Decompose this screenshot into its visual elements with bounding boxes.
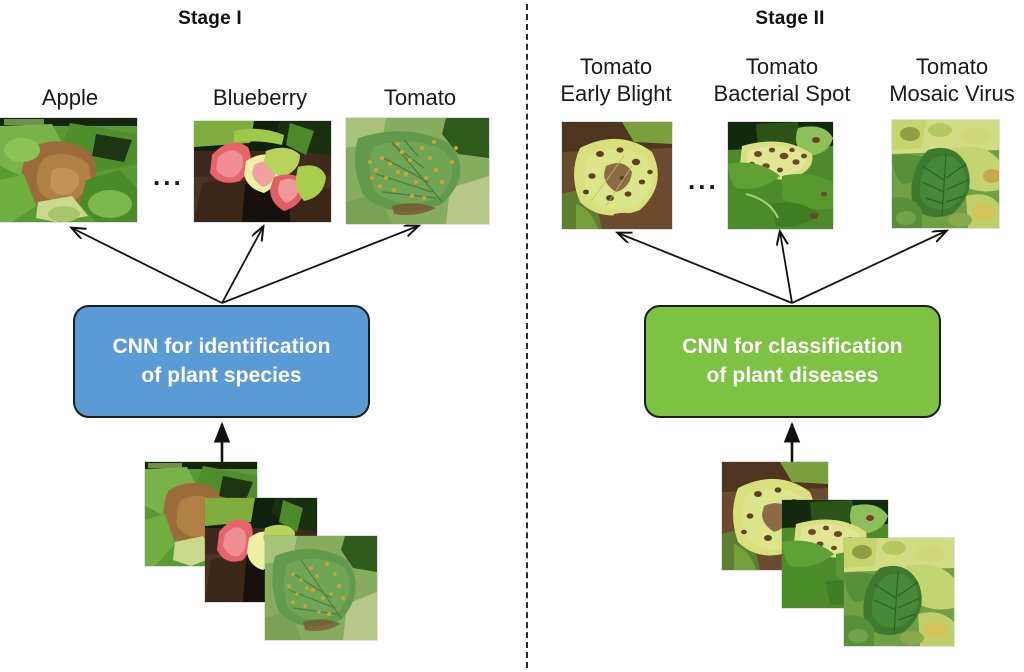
label-line-1: Tomato	[580, 54, 652, 79]
stage-2-output-image-mosaic-virus	[892, 120, 999, 228]
stage-1-output-image-blueberry	[194, 121, 331, 222]
stage-2-input-stack	[722, 462, 952, 662]
figure-canvas: Stage I Stage II Apple Blueberry Tomato …	[0, 0, 1024, 672]
stage-1-cnn-label-line-1: CNN for identification	[112, 335, 330, 358]
stage-2-output-label-bacterial-spot: Tomato Bacterial Spot	[700, 54, 864, 108]
label-line-2: Mosaic Virus	[889, 81, 1015, 106]
label-line-2: Early Blight	[560, 81, 671, 106]
stage-2-ellipsis: ...	[688, 167, 719, 193]
stage-2-cnn-box[interactable]: CNN for classification of plant diseases	[644, 305, 941, 418]
stage-1-output-image-tomato	[346, 118, 489, 224]
stage-1-output-image-apple	[0, 118, 137, 222]
stage-1-title: Stage I	[130, 8, 290, 30]
stage-1-fanout-arrows	[72, 226, 418, 303]
stage-1-output-label-blueberry: Blueberry	[185, 85, 335, 112]
label-line-2: Bacterial Spot	[714, 81, 851, 106]
stage-1-cnn-label-line-2: of plant species	[141, 364, 301, 387]
stage-divider	[526, 4, 528, 668]
stage-2-cnn-label-line-2: of plant diseases	[706, 364, 878, 387]
label-line-1: Tomato	[916, 54, 988, 79]
stage-2-title: Stage II	[700, 8, 880, 30]
stack-image-3	[265, 536, 377, 640]
stage-1-output-label-apple: Apple	[0, 85, 150, 112]
stack-image-3	[844, 538, 954, 646]
stage-2-cnn-label-line-1: CNN for classification	[682, 335, 902, 358]
label-line-1: Tomato	[746, 54, 818, 79]
stage-2-output-image-early-blight	[562, 122, 672, 229]
stage-1-cnn-box[interactable]: CNN for identification of plant species	[73, 305, 370, 418]
stage-2-fanout-arrows	[618, 231, 946, 303]
stage-2-output-image-bacterial-spot	[728, 122, 833, 229]
stage-1-output-label-tomato: Tomato	[346, 85, 494, 112]
stage-2-output-label-mosaic-virus: Tomato Mosaic Virus	[872, 54, 1024, 108]
stage-1-ellipsis: ...	[153, 163, 184, 189]
stage-2-output-label-early-blight: Tomato Early Blight	[548, 54, 684, 108]
stage-1-input-stack	[145, 462, 375, 662]
